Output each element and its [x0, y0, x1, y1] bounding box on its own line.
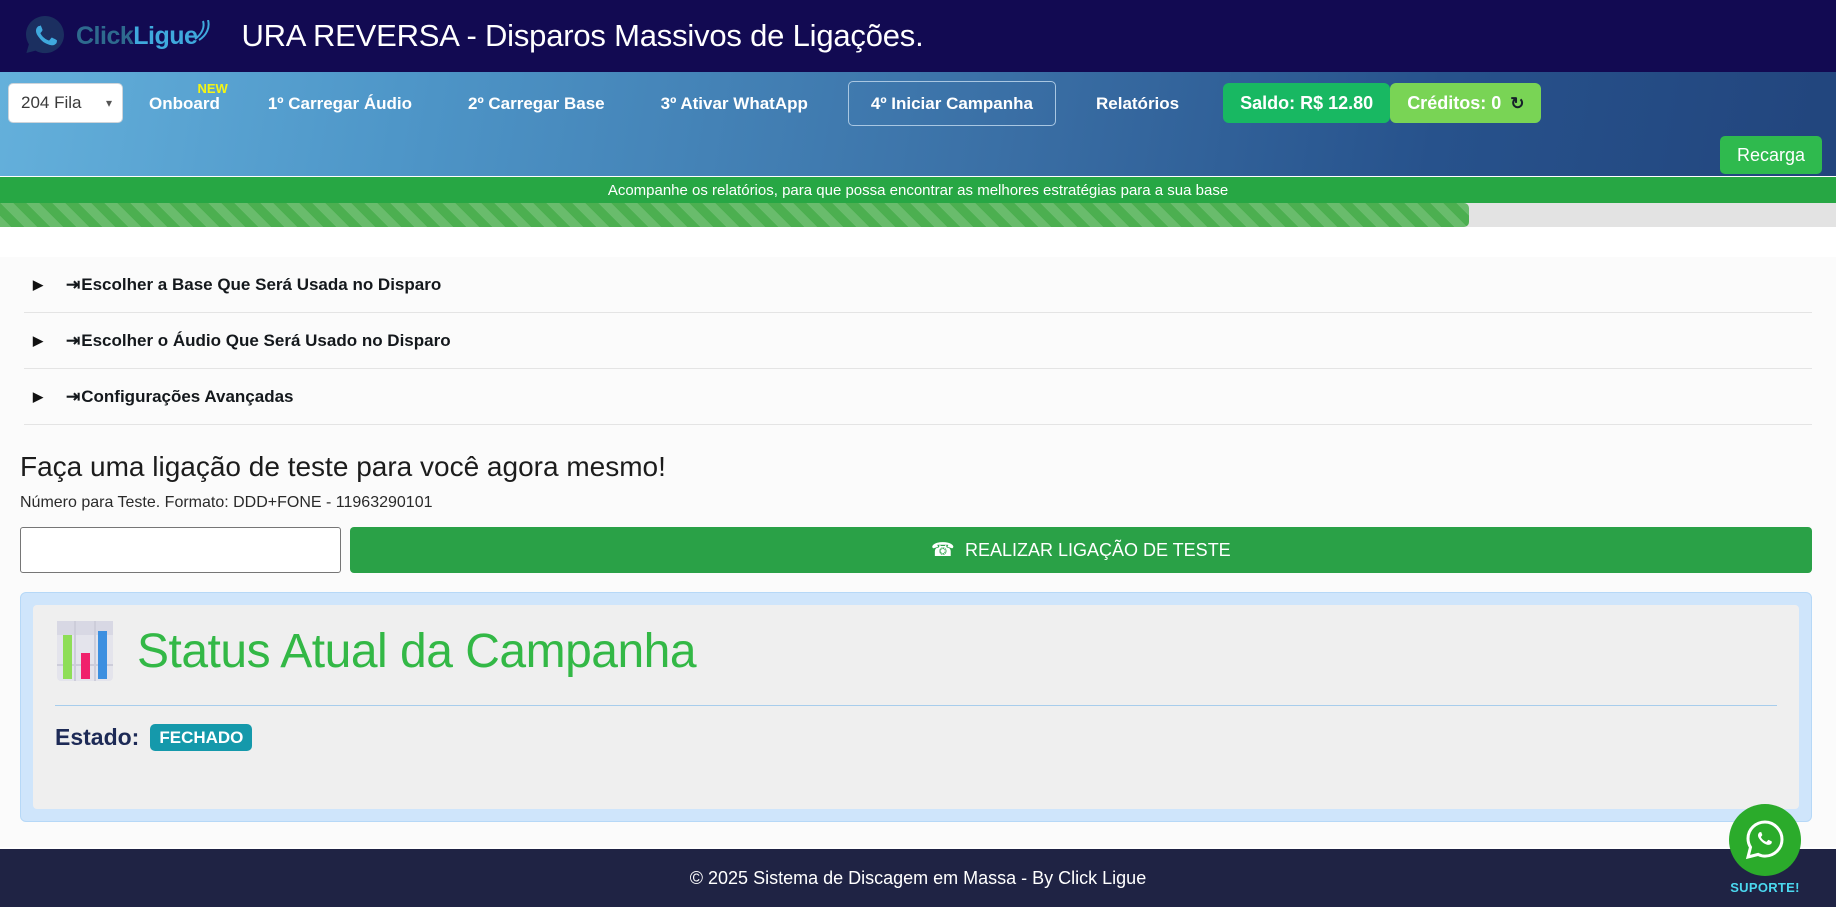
nav-item-label: Relatórios [1096, 94, 1179, 113]
estado-label: Estado: [55, 724, 139, 751]
accordion-item-base[interactable]: ▶ ⇥ Escolher a Base Que Será Usada no Di… [24, 257, 1812, 313]
queue-select[interactable]: 204 Fila ▾ [8, 83, 123, 123]
refresh-icon[interactable]: ↻ [1510, 95, 1524, 112]
accordion-item-label: Configurações Avançadas [81, 387, 293, 407]
status-divider [55, 705, 1777, 706]
status-campaign-header: Status Atual da Campanha [55, 619, 1777, 683]
footer-text: © 2025 Sistema de Discagem em Massa - By… [690, 868, 1146, 889]
whatsapp-support-widget[interactable]: SUPORTE! [1717, 804, 1813, 895]
nav-item-relatorios[interactable]: Relatórios [1068, 95, 1207, 112]
sign-in-arrow-icon: ⇥ [66, 387, 80, 407]
whatsapp-phone-logo-icon [22, 13, 68, 59]
nav-item-label: 1º Carregar Áudio [268, 94, 412, 113]
brand-wordmark: ClickLigue [76, 22, 197, 51]
nav-item-label: 2º Carregar Base [468, 94, 605, 113]
app-footer: © 2025 Sistema de Discagem em Massa - By… [0, 849, 1836, 907]
signal-arc-icon [193, 20, 213, 42]
test-call-title: Faça uma ligação de teste para você agor… [20, 451, 1812, 483]
main-content: ▶ ⇥ Escolher a Base Que Será Usada no Di… [0, 257, 1836, 847]
nav-item-iniciar-campanha[interactable]: 4º Iniciar Campanha [848, 81, 1056, 126]
new-badge: NEW [198, 82, 228, 95]
app-header: ClickLigue URA REVERSA - Disparos Massiv… [0, 0, 1836, 72]
sign-in-arrow-icon: ⇥ [66, 275, 80, 295]
accordion-item-label: Escolher o Áudio Que Será Usado no Dispa… [81, 331, 450, 351]
whatsapp-icon[interactable] [1729, 804, 1801, 876]
phone-icon: ☎ [931, 539, 955, 562]
info-banner: Acompanhe os relatórios, para que possa … [0, 176, 1836, 203]
triangle-right-icon: ▶ [24, 333, 66, 349]
bar-chart-icon [55, 619, 115, 683]
realizar-ligacao-teste-button[interactable]: ☎ REALIZAR LIGAÇÃO DE TESTE [350, 527, 1812, 573]
test-phone-input[interactable] [20, 527, 341, 573]
status-badge: FECHADO [150, 724, 252, 751]
campaign-progress-track [0, 203, 1836, 227]
page-title: URA REVERSA - Disparos Massivos de Ligaç… [241, 18, 923, 54]
status-campaign-inner: Status Atual da Campanha Estado: FECHADO [33, 605, 1799, 809]
estado-row: Estado: FECHADO [55, 724, 1777, 751]
brand-word-ligue: Ligue [133, 22, 197, 50]
info-banner-text: Acompanhe os relatórios, para que possa … [608, 182, 1228, 199]
triangle-right-icon: ▶ [24, 389, 66, 405]
sign-in-arrow-icon: ⇥ [66, 331, 80, 351]
saldo-label: Saldo: R$ 12.80 [1240, 94, 1373, 112]
nav-item-label: Onboard [149, 94, 220, 113]
nav-item-onboard[interactable]: Onboard NEW [123, 95, 240, 112]
realizar-ligacao-teste-label: REALIZAR LIGAÇÃO DE TESTE [965, 540, 1231, 561]
triangle-right-icon: ▶ [24, 277, 66, 293]
creditos-label: Créditos: 0 [1407, 94, 1501, 112]
queue-select-value: 204 Fila [21, 93, 81, 113]
nav-item-ativar-whatsapp[interactable]: 3º Ativar WhatApp [633, 95, 836, 112]
recarga-button[interactable]: Recarga [1720, 136, 1822, 174]
whatsapp-support-label: SUPORTE! [1717, 880, 1813, 895]
brand-logo-area[interactable]: ClickLigue [22, 13, 197, 59]
accordion-item-configuracoes[interactable]: ▶ ⇥ Configurações Avançadas [24, 369, 1812, 425]
nav-items: Onboard NEW 1º Carregar Áudio 2º Carrega… [123, 81, 1207, 126]
nav-item-label: 3º Ativar WhatApp [661, 94, 808, 113]
status-campaign-title: Status Atual da Campanha [137, 624, 696, 679]
nav-item-carregar-base[interactable]: 2º Carregar Base [440, 95, 633, 112]
creditos-button[interactable]: Créditos: 0 ↻ [1390, 83, 1541, 123]
accordion-item-label: Escolher a Base Que Será Usada no Dispar… [81, 275, 441, 295]
nav-item-label: 4º Iniciar Campanha [871, 94, 1033, 113]
main-navbar: 204 Fila ▾ Onboard NEW 1º Carregar Áudio… [0, 72, 1836, 176]
chevron-down-icon: ▾ [106, 96, 112, 110]
test-call-subtitle: Número para Teste. Formato: DDD+FONE - 1… [20, 494, 1812, 512]
nav-item-carregar-audio[interactable]: 1º Carregar Áudio [240, 95, 440, 112]
test-call-row: ☎ REALIZAR LIGAÇÃO DE TESTE [20, 527, 1812, 573]
accordion-item-audio[interactable]: ▶ ⇥ Escolher o Áudio Que Será Usado no D… [24, 313, 1812, 369]
saldo-button[interactable]: Saldo: R$ 12.80 [1223, 83, 1390, 123]
brand-word-click: Click [76, 22, 133, 50]
status-campaign-card: Status Atual da Campanha Estado: FECHADO [20, 592, 1812, 822]
recarga-area: Recarga [1720, 134, 1822, 176]
campaign-progress-fill [0, 203, 1469, 227]
